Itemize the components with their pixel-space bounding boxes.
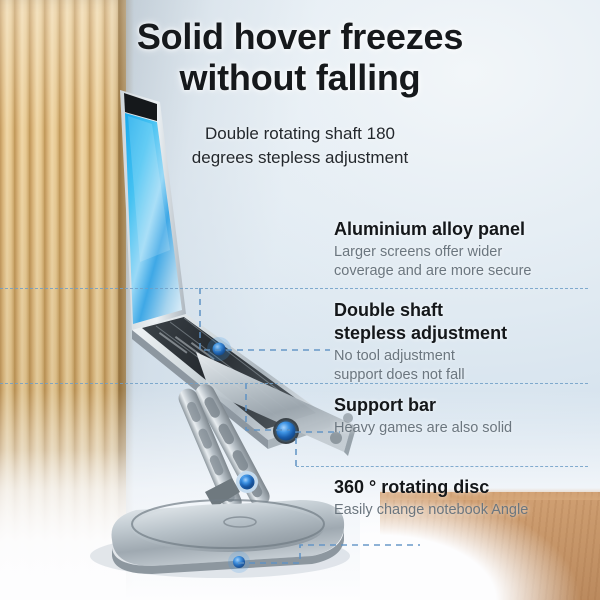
- callout-subtitle: Easily change notebook Angle: [334, 501, 596, 520]
- callout-subtitle-line-2: coverage and are more secure: [334, 263, 531, 279]
- callout-subtitle-line-1: Larger screens offer wider: [334, 244, 502, 260]
- callout-title: Double shaft stepless adjustment: [334, 299, 596, 345]
- callout-separator-3: [296, 466, 588, 467]
- callout-subtitle: Heavy games are also solid: [334, 419, 596, 438]
- callout-aluminium-alloy-panel: Aluminium alloy panel Larger screens off…: [334, 218, 596, 281]
- callout-subtitle: Larger screens offer wider coverage and …: [334, 243, 596, 281]
- callout-title: Aluminium alloy panel: [334, 218, 596, 241]
- callout-double-shaft-stepless-adjustment: Double shaft stepless adjustment No tool…: [334, 299, 596, 385]
- callout-separator-1: [0, 288, 588, 289]
- callout-title: Support bar: [334, 394, 596, 417]
- callout-360-rotating-disc: 360 ° rotating disc Easily change notebo…: [334, 476, 596, 520]
- callout-title-line-1: Double shaft: [334, 300, 443, 320]
- callout-title: 360 ° rotating disc: [334, 476, 596, 499]
- feature-callouts: Aluminium alloy panel Larger screens off…: [0, 0, 600, 600]
- callout-subtitle-line-1: No tool adjustment: [334, 348, 455, 364]
- callout-subtitle-line-2: support does not fall: [334, 367, 465, 383]
- product-infographic: Solid hover freezes without falling Doub…: [0, 0, 600, 600]
- callout-subtitle: No tool adjustment support does not fall: [334, 347, 596, 385]
- callout-title-line-2: stepless adjustment: [334, 323, 507, 343]
- callout-support-bar: Support bar Heavy games are also solid: [334, 394, 596, 438]
